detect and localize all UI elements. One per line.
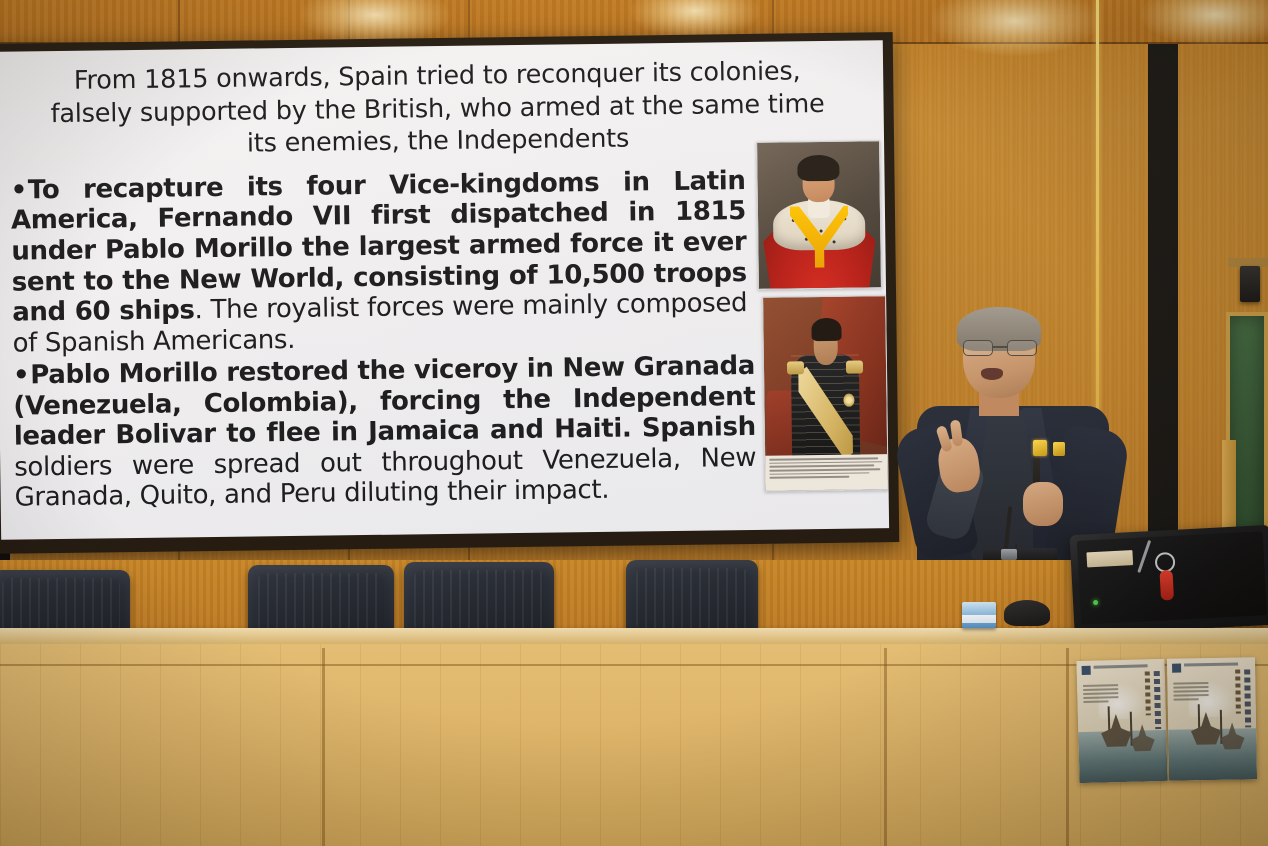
inventory-label — [1086, 550, 1133, 567]
poster-title-vertical — [1244, 669, 1251, 727]
tissue-box-label — [962, 615, 996, 623]
poster-subtitle-vertical — [1145, 671, 1151, 715]
poster-subtitle-vertical — [1235, 670, 1241, 714]
portrait-pablo-morillo — [762, 295, 889, 492]
microphone-base[interactable] — [1004, 600, 1050, 626]
presenter-mouth — [981, 368, 1003, 380]
belt-buckle — [1001, 549, 1017, 560]
poster-logo-icon — [1172, 664, 1181, 673]
slide-title: From 1815 onwards, Spain tried to reconq… — [9, 54, 866, 163]
poster-header-text — [1094, 664, 1148, 668]
caption-line — [769, 468, 880, 471]
portrait-fernando-vii — [756, 140, 882, 290]
caption-line — [769, 472, 869, 475]
lecture-hall-photo: From 1815 onwards, Spain tried to reconq… — [0, 0, 1268, 846]
eyeglasses-icon — [963, 340, 1037, 356]
poster-header-text — [1184, 663, 1238, 667]
lapel-pin-secondary — [1053, 442, 1065, 456]
red-key-fob — [1159, 570, 1174, 601]
computer-monitor[interactable] — [1070, 525, 1268, 635]
desk-top-surface — [0, 628, 1268, 644]
epaulette-right — [846, 360, 863, 374]
lens-right — [1007, 340, 1037, 356]
slide-bullet-1: To recapture its four Vice-kingdoms in L… — [10, 166, 747, 359]
epaulette-left — [787, 361, 804, 375]
slide-bullet-2: Pablo Morillo restored the viceroy in Ne… — [13, 351, 757, 513]
caption-line — [769, 461, 882, 464]
portrait-hair — [811, 318, 842, 342]
presenter-hand-holding-mic — [1023, 482, 1063, 526]
portrait-hair — [797, 155, 839, 182]
slide-bullet-list: To recapture its four Vice-kingdoms in L… — [10, 164, 870, 513]
portrait-caption-block — [765, 454, 887, 490]
poster-body-text — [1173, 682, 1209, 703]
desk-panel-divider — [884, 648, 887, 846]
projection-screen: From 1815 onwards, Spain tried to reconq… — [0, 32, 899, 554]
caption-line — [769, 476, 849, 479]
glasses-bridge — [993, 346, 1007, 348]
poster-body-text — [1083, 684, 1119, 705]
lapel-pin — [1033, 440, 1047, 456]
tissue-box[interactable] — [962, 602, 996, 628]
caption-line — [769, 465, 874, 468]
poster-logo-icon — [1082, 666, 1091, 675]
bullet-2-regular: soldiers were spread out throughout Vene… — [14, 443, 756, 513]
poster-title-vertical — [1154, 671, 1162, 729]
desk-panel-divider — [1066, 648, 1069, 846]
desk-panel-divider — [322, 648, 325, 846]
caption-line — [769, 458, 878, 461]
lens-left — [963, 340, 993, 356]
bullet-2-bold: Pablo Morillo restored the viceroy in Ne… — [13, 351, 756, 452]
presentation-slide: From 1815 onwards, Spain tried to reconq… — [0, 40, 889, 540]
wall-speaker-icon — [1240, 266, 1260, 302]
poster[interactable] — [1076, 659, 1167, 783]
poster[interactable] — [1167, 657, 1257, 781]
wall-recess-strip — [1148, 44, 1178, 564]
